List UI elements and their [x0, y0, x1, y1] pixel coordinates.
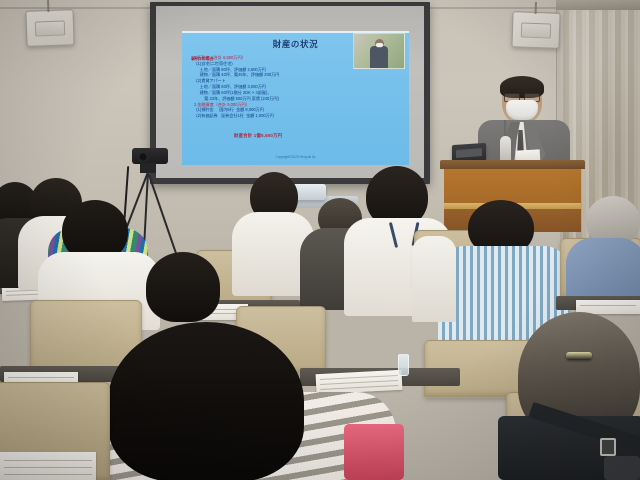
speaker-grill-right [529, 28, 543, 33]
speaker-hanger-right [535, 2, 537, 14]
pink-pouch [344, 424, 404, 480]
torso [412, 236, 456, 322]
head [108, 322, 304, 480]
handout-paper [316, 370, 403, 394]
presentation-slide: 財産の状況 事例1の場合 1.不動産（合計 6,500万円） (1)自宅(二世帯… [182, 31, 409, 165]
speaker-hanger-left [47, 0, 49, 12]
presenter-face-mask [506, 100, 538, 120]
podium-microphone [500, 136, 511, 162]
camera-lens-icon [138, 152, 148, 162]
thumb-mask [376, 43, 383, 47]
presenter-glasses-icon [504, 93, 540, 100]
attendee-head-partial [146, 252, 220, 322]
seminar-photo-scene: 財産の状況 事例1の場合 1.不動産（合計 6,500万円） (1)自宅(二世帯… [0, 0, 640, 480]
slide-body-text: 1.不動産（合計 6,500万円） (1)自宅(二世帯住宅) 土地／面積 80坪… [194, 55, 403, 119]
video-camera-body [132, 148, 168, 164]
speaker-grill-left [43, 26, 57, 31]
slide-total-line: 財産合計 1億5,500万円 [234, 133, 282, 139]
hair-clip [566, 352, 592, 360]
wall-speaker-right-icon [511, 11, 560, 49]
bag-buckle [600, 438, 616, 456]
slide-line-11: (2)有価証券 証券会社1社 金額 1,000万円 [194, 113, 403, 119]
podium-top-surface [440, 160, 585, 169]
handout-paper [0, 452, 96, 480]
slide-copyright: Copyright©2022 Hiroyuki Ito [182, 155, 409, 159]
foreground-object [604, 456, 640, 480]
tripod-leg [147, 172, 178, 256]
water-bottle [398, 354, 409, 376]
curtain-rail [556, 0, 640, 10]
wall-speaker-left-icon [25, 9, 74, 47]
